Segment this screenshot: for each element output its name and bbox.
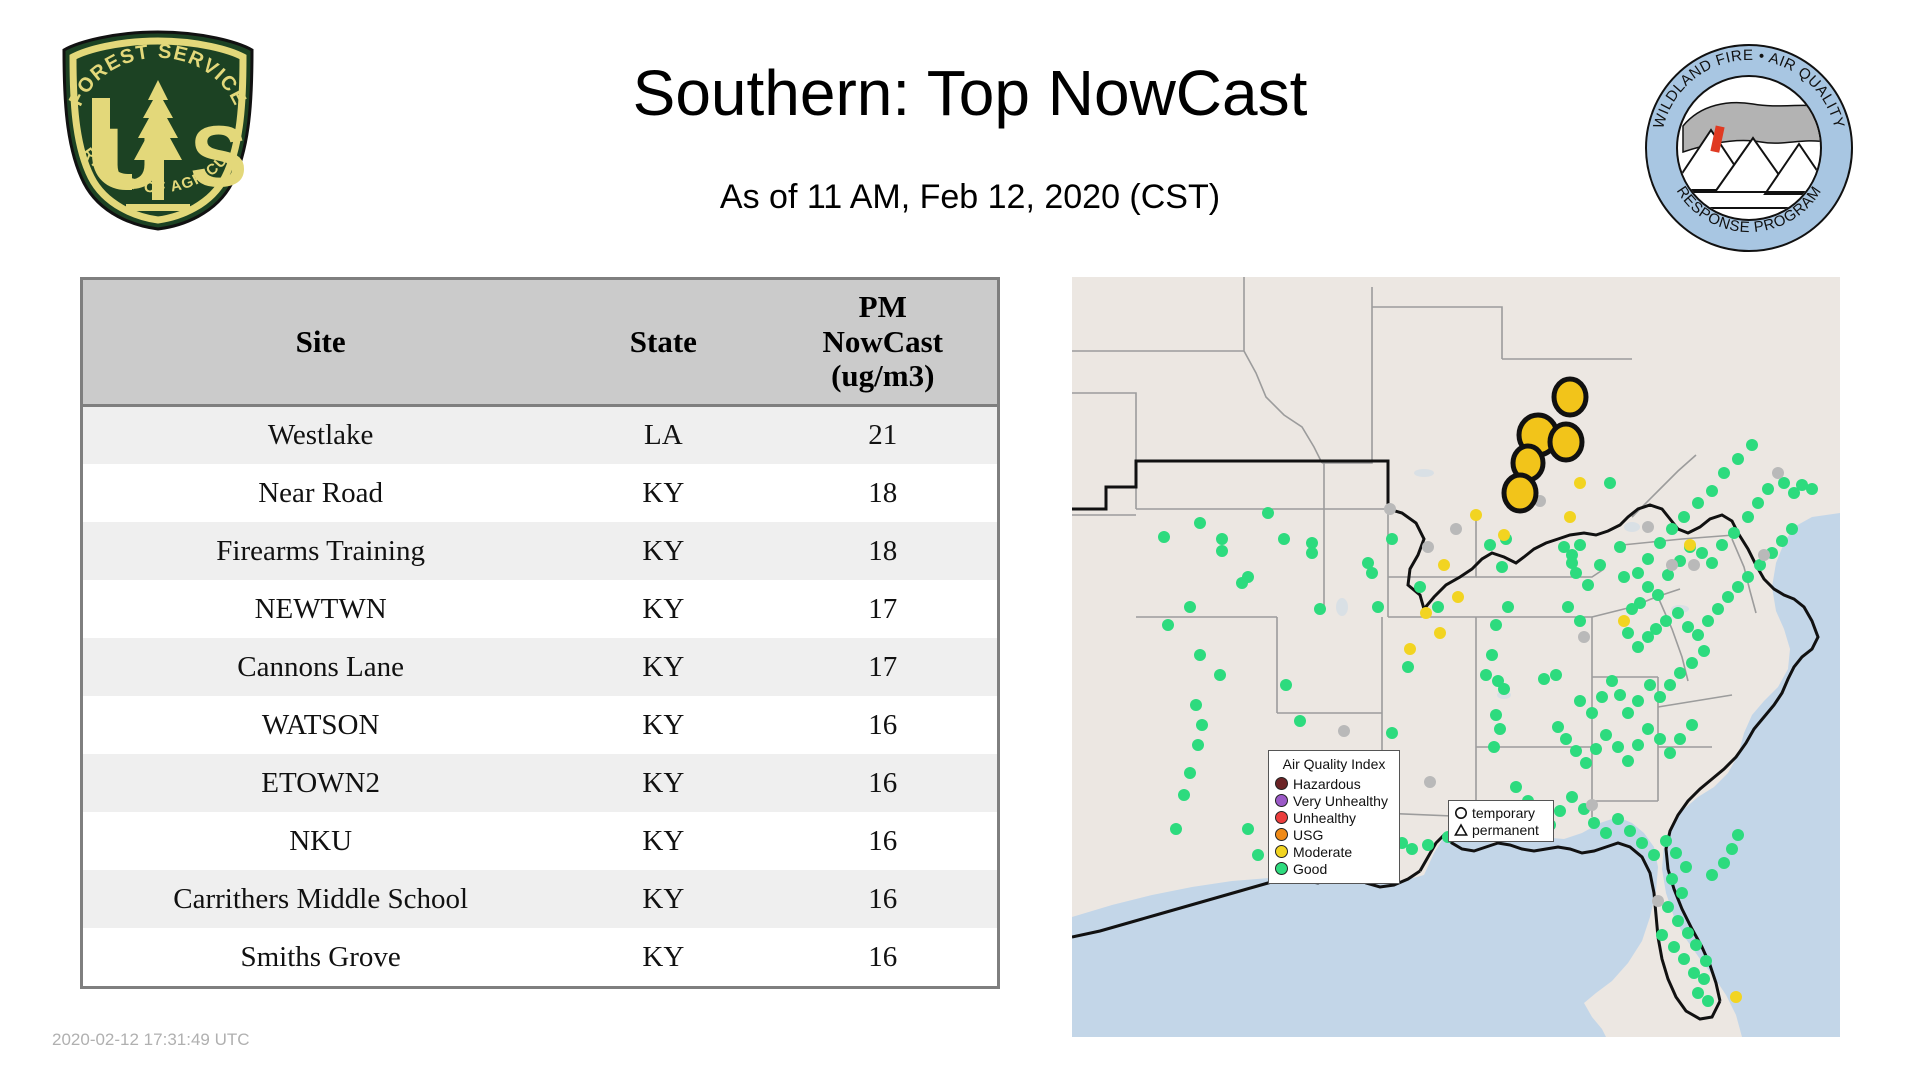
cell-site: Near Road [83,464,558,522]
legend-label: Good [1293,862,1327,876]
slide-root: U S FOREST SERVICE DEPARTMENT OF AGRICUL… [0,0,1920,1080]
aqi-dot-good [1275,862,1288,875]
header-line: Site [296,324,346,359]
cell-state: LA [558,406,768,465]
monitor-type-legend: temporary permanent [1448,800,1554,842]
legend-label: Moderate [1293,845,1352,859]
aqi-legend: Air Quality Index Hazardous Very Unhealt… [1268,750,1400,884]
cell-state: KY [558,580,768,638]
column-header-site: Site [83,280,558,406]
legend-item-permanent: permanent [1454,821,1548,838]
cell-value: 18 [768,522,997,580]
header-line: State [630,324,697,359]
cell-state: KY [558,754,768,812]
legend-label: temporary [1472,806,1535,820]
table-row: WestlakeLA21 [83,406,997,465]
cell-site: Carrithers Middle School [83,870,558,928]
cell-state: KY [558,696,768,754]
page-subtitle: As of 11 AM, Feb 12, 2020 (CST) [330,178,1610,217]
header-line: NowCast [822,324,943,359]
cell-site: Firearms Training [83,522,558,580]
aqi-dot-unhealthy [1275,811,1288,824]
cell-state: KY [558,812,768,870]
cell-state: KY [558,928,768,986]
table-row: ETOWN2KY16 [83,754,997,812]
legend-label: Very Unhealthy [1293,794,1388,808]
aqi-dot-very-unhealthy [1275,794,1288,807]
cell-state: KY [558,870,768,928]
legend-item-temporary: temporary [1454,804,1548,821]
page-title: Southern: Top NowCast [330,58,1610,128]
triangle-outline-icon [1454,823,1468,837]
legend-item-moderate: Moderate [1275,843,1393,860]
cell-site: NKU [83,812,558,870]
monitor-map[interactable] [1072,277,1840,1037]
table-row: NKUKY16 [83,812,997,870]
cell-value: 18 [768,464,997,522]
top-site-marker [1554,379,1586,415]
cell-value: 16 [768,696,997,754]
wfaqrp-logo: WILDLAND FIRE • AIR QUALITY RESPONSE PRO… [1643,42,1855,254]
column-header-pm-nowcast: PM NowCast (ug/m3) [768,280,997,406]
cell-site: WATSON [83,696,558,754]
cell-value: 16 [768,928,997,986]
legend-label: USG [1293,828,1323,842]
aqi-dot-usg [1275,828,1288,841]
aqi-dot-moderate [1275,845,1288,858]
table-row: Carrithers Middle SchoolKY16 [83,870,997,928]
cell-value: 17 [768,638,997,696]
legend-item-unhealthy: Unhealthy [1275,809,1393,826]
legend-item-good: Good [1275,860,1393,877]
legend-label: Unhealthy [1293,811,1356,825]
legend-item-hazardous: Hazardous [1275,775,1393,792]
table-row: Cannons LaneKY17 [83,638,997,696]
table-row: Near RoadKY18 [83,464,997,522]
header-line: (ug/m3) [831,358,934,393]
table-header-row: Site State PM NowCast (ug/m3) [83,280,997,406]
cell-site: Cannons Lane [83,638,558,696]
table-row: Firearms TrainingKY18 [83,522,997,580]
cell-site: Smiths Grove [83,928,558,986]
table-row: Smiths GroveKY16 [83,928,997,986]
cell-value: 21 [768,406,997,465]
table-row: WATSONKY16 [83,696,997,754]
legend-item-very-unhealthy: Very Unhealthy [1275,792,1393,809]
cell-value: 17 [768,580,997,638]
cell-site: NEWTWN [83,580,558,638]
aqi-legend-title: Air Quality Index [1275,756,1393,772]
legend-label: permanent [1472,823,1539,837]
cell-value: 16 [768,812,997,870]
column-header-state: State [558,280,768,406]
circle-outline-icon [1454,806,1468,820]
top-site-marker [1504,475,1536,511]
top-site-marker [1550,424,1582,460]
table-row: NEWTWNKY17 [83,580,997,638]
legend-item-usg: USG [1275,826,1393,843]
us-forest-service-logo: U S FOREST SERVICE DEPARTMENT OF AGRICUL… [52,28,264,233]
cell-site: Westlake [83,406,558,465]
generated-timestamp: 2020-02-12 17:31:49 UTC [52,1030,250,1050]
cell-state: KY [558,522,768,580]
cell-state: KY [558,638,768,696]
header-line: PM [859,289,907,324]
aqi-dot-hazardous [1275,777,1288,790]
cell-value: 16 [768,754,997,812]
cell-value: 16 [768,870,997,928]
legend-label: Hazardous [1293,777,1361,791]
top-nowcast-table: Site State PM NowCast (ug/m3) WestlakeLA… [80,277,1000,989]
table-body: WestlakeLA21 Near RoadKY18 Firearms Trai… [83,406,997,987]
cell-state: KY [558,464,768,522]
cell-site: ETOWN2 [83,754,558,812]
